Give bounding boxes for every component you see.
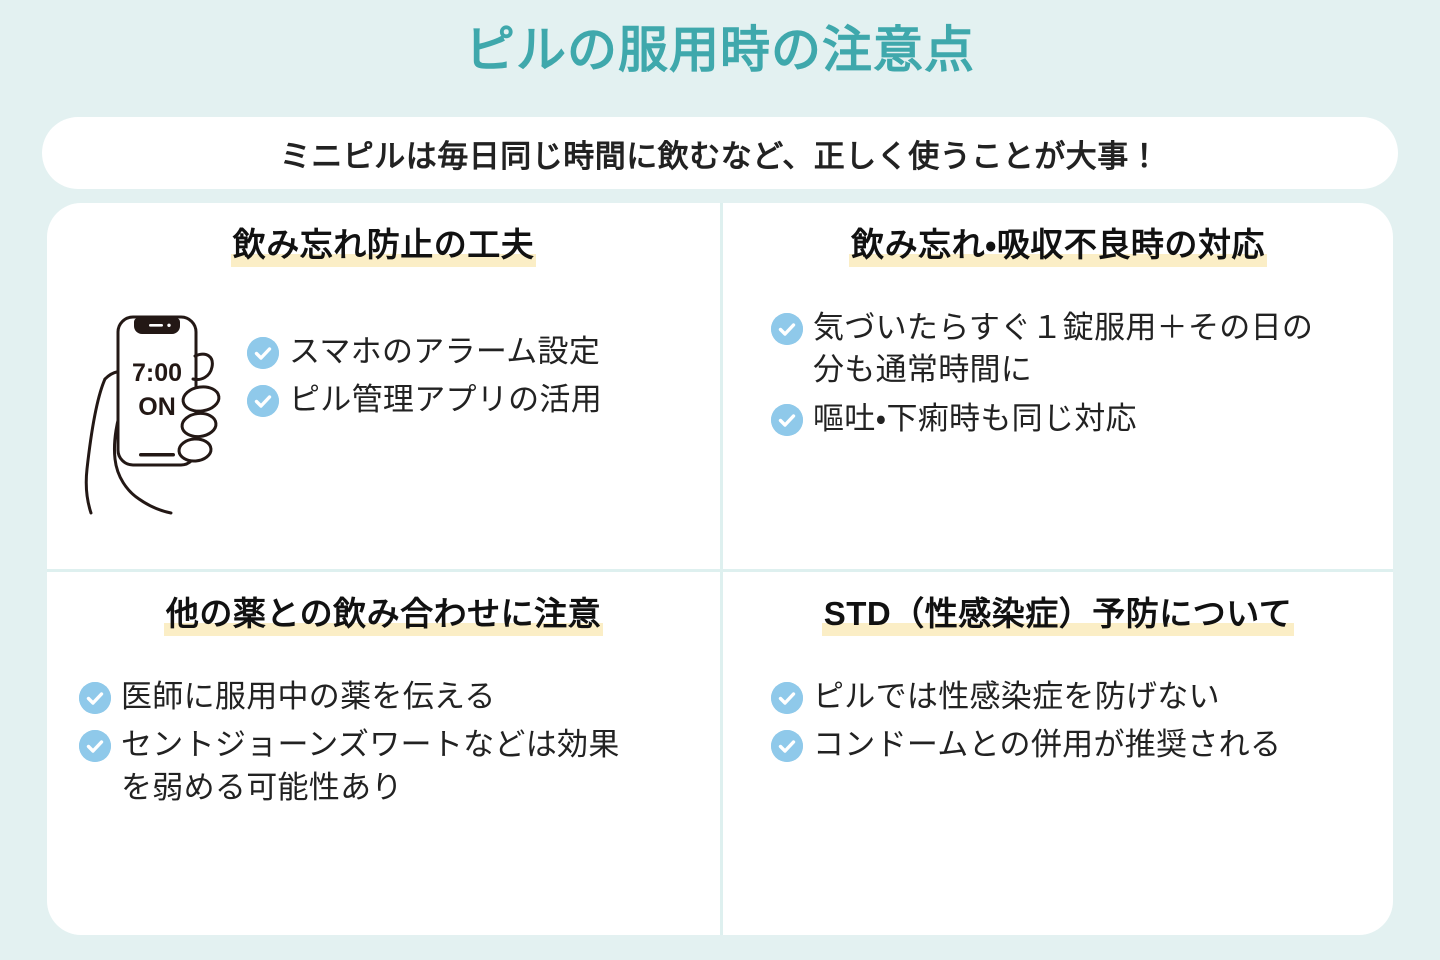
list-item-text: 気づいたらすぐ１錠服用＋その日の分も通常時間に bbox=[813, 307, 1333, 393]
check-circle-icon bbox=[79, 730, 111, 762]
panel-heading-drug-interactions: 他の薬との飲み合わせに注意 bbox=[73, 594, 694, 634]
bullet-list-forget-prevention: スマホのアラーム設定 ピル管理アプリの活用 bbox=[247, 297, 602, 429]
check-circle-icon bbox=[771, 404, 803, 436]
hand-holding-phone-icon: 7:00 ON bbox=[83, 301, 233, 521]
check-circle-icon bbox=[247, 385, 279, 417]
panel-heading-text: 他の薬との飲み合わせに注意 bbox=[164, 595, 603, 636]
list-item-text: セントジョーンズワートなどは効果を弱める可能性あり bbox=[121, 724, 641, 810]
subtitle-text: ミニピルは毎日同じ時間に飲むなど、正しく使うことが大事！ bbox=[280, 131, 1160, 176]
check-circle-icon bbox=[771, 313, 803, 345]
bullet-list-std-prevention: ピルでは性感染症を防げない コンドームとの併用が推奨される bbox=[771, 676, 1281, 774]
list-item-text: コンドームとの併用が推奨される bbox=[813, 724, 1281, 767]
list-item: コンドームとの併用が推奨される bbox=[771, 724, 1281, 767]
svg-text:7:00: 7:00 bbox=[132, 359, 182, 387]
list-item-text: 嘔吐・下痢時も同じ対応 bbox=[813, 398, 1137, 441]
panel-heading-forget-prevention: 飲み忘れ防止の工夫 bbox=[73, 225, 694, 265]
list-item-text: ピルでは性感染症を防げない bbox=[813, 676, 1220, 719]
panel-body-std-prevention: ピルでは性感染症を防げない コンドームとの併用が推奨される bbox=[749, 642, 1367, 774]
list-item: 嘔吐・下痢時も同じ対応 bbox=[771, 398, 1333, 441]
panel-heading-missed-dose-response: 飲み忘れ・吸収不良時の対応 bbox=[749, 225, 1367, 265]
check-circle-icon bbox=[247, 337, 279, 369]
list-item-text: 医師に服用中の薬を伝える bbox=[121, 676, 496, 719]
subtitle-banner: ミニピルは毎日同じ時間に飲むなど、正しく使うことが大事！ bbox=[42, 117, 1398, 189]
list-item-text: スマホのアラーム設定 bbox=[289, 331, 600, 374]
svg-text:ON: ON bbox=[138, 393, 176, 421]
list-item: 気づいたらすぐ１錠服用＋その日の分も通常時間に bbox=[771, 307, 1333, 393]
check-circle-icon bbox=[771, 682, 803, 714]
panel-missed-dose-response: 飲み忘れ・吸収不良時の対応 気づいたらすぐ１錠服用＋その日の分も通常時間に 嘔吐… bbox=[720, 203, 1393, 569]
panel-forget-prevention: 飲み忘れ防止の工夫 7:00 ON bbox=[47, 203, 720, 569]
panel-heading-text: STD（性感染症）予防について bbox=[822, 595, 1295, 636]
list-item: スマホのアラーム設定 bbox=[247, 331, 602, 374]
panel-std-prevention: STD（性感染症）予防について ピルでは性感染症を防げない コンドームとの併用が… bbox=[720, 569, 1393, 935]
panel-heading-text: 飲み忘れ防止の工夫 bbox=[231, 226, 537, 267]
list-item: セントジョーンズワートなどは効果を弱める可能性あり bbox=[79, 724, 641, 810]
bullet-list-drug-interactions: 医師に服用中の薬を伝える セントジョーンズワートなどは効果を弱める可能性あり bbox=[79, 676, 641, 816]
list-item-text: ピル管理アプリの活用 bbox=[289, 379, 602, 422]
list-item: ピル管理アプリの活用 bbox=[247, 379, 602, 422]
content-card: 飲み忘れ防止の工夫 7:00 ON bbox=[47, 203, 1393, 935]
list-item: ピルでは性感染症を防げない bbox=[771, 676, 1281, 719]
panel-heading-std-prevention: STD（性感染症）予防について bbox=[749, 594, 1367, 634]
panel-heading-text: 飲み忘れ・吸収不良時の対応 bbox=[849, 226, 1267, 267]
check-circle-icon bbox=[79, 682, 111, 714]
list-item: 医師に服用中の薬を伝える bbox=[79, 676, 641, 719]
panel-body-missed-dose-response: 気づいたらすぐ１錠服用＋その日の分も通常時間に 嘔吐・下痢時も同じ対応 bbox=[749, 273, 1367, 447]
panel-body-forget-prevention: 7:00 ON スマホのアラーム設定 bbox=[73, 273, 694, 521]
bullet-list-missed-dose-response: 気づいたらすぐ１錠服用＋その日の分も通常時間に 嘔吐・下痢時も同じ対応 bbox=[771, 307, 1333, 447]
page-title: ピルの服用時の注意点 bbox=[0, 0, 1440, 80]
panel-body-drug-interactions: 医師に服用中の薬を伝える セントジョーンズワートなどは効果を弱める可能性あり bbox=[73, 642, 694, 816]
panel-drug-interactions: 他の薬との飲み合わせに注意 医師に服用中の薬を伝える セントジョーンズワートなど… bbox=[47, 569, 720, 935]
check-circle-icon bbox=[771, 730, 803, 762]
